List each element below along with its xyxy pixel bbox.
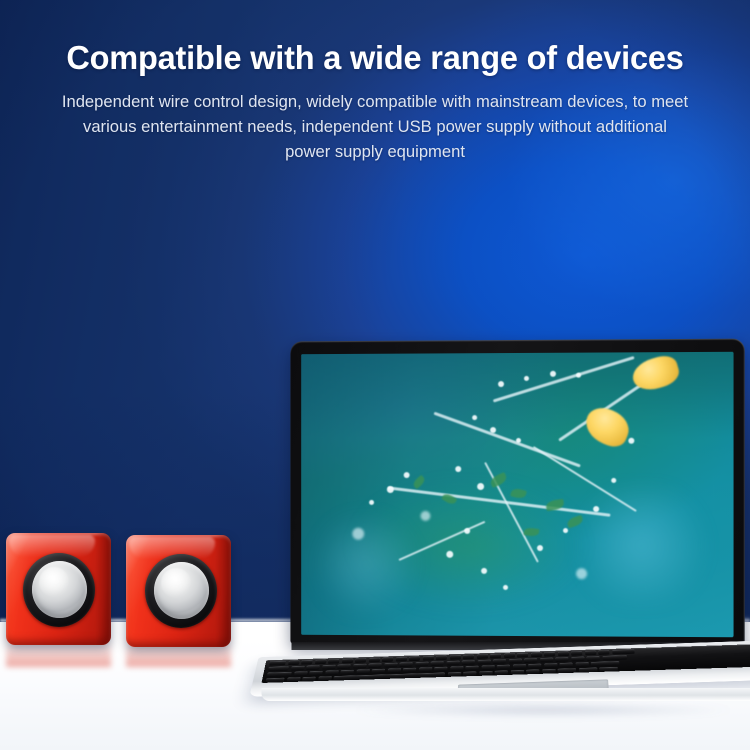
page-title: Compatible with a wide range of devices [6, 0, 745, 77]
left-speaker [6, 533, 111, 645]
dewdrop [524, 376, 529, 381]
laptop-lid [290, 339, 744, 647]
speaker-side-shade [215, 535, 231, 647]
dewdrop [576, 372, 581, 377]
dewdrop [611, 477, 616, 482]
laptop-computer [243, 330, 750, 720]
dewdrop [503, 585, 508, 590]
dewdrop [490, 427, 496, 433]
speaker-side-shade [95, 533, 111, 645]
dewdrop [477, 483, 484, 490]
dewdrop [455, 466, 461, 472]
dewdrop [386, 486, 393, 493]
marketing-copy: Compatible with a wide range of devices … [0, 0, 750, 164]
dewdrop [464, 528, 470, 534]
speaker-dust-cap [39, 567, 69, 597]
laptop-shadow [273, 702, 750, 718]
dewdrop [481, 568, 487, 574]
laptop-screen [301, 352, 733, 637]
dewdrop [516, 438, 521, 443]
right-speaker [126, 535, 231, 647]
dewdrop [628, 438, 634, 444]
description-text: Independent wire control design, widely … [59, 89, 691, 164]
laptop-front-edge [261, 688, 750, 701]
speaker-dust-cap [161, 568, 191, 598]
dewdrop [404, 472, 410, 478]
product-banner: Compatible with a wide range of devices … [0, 0, 750, 750]
